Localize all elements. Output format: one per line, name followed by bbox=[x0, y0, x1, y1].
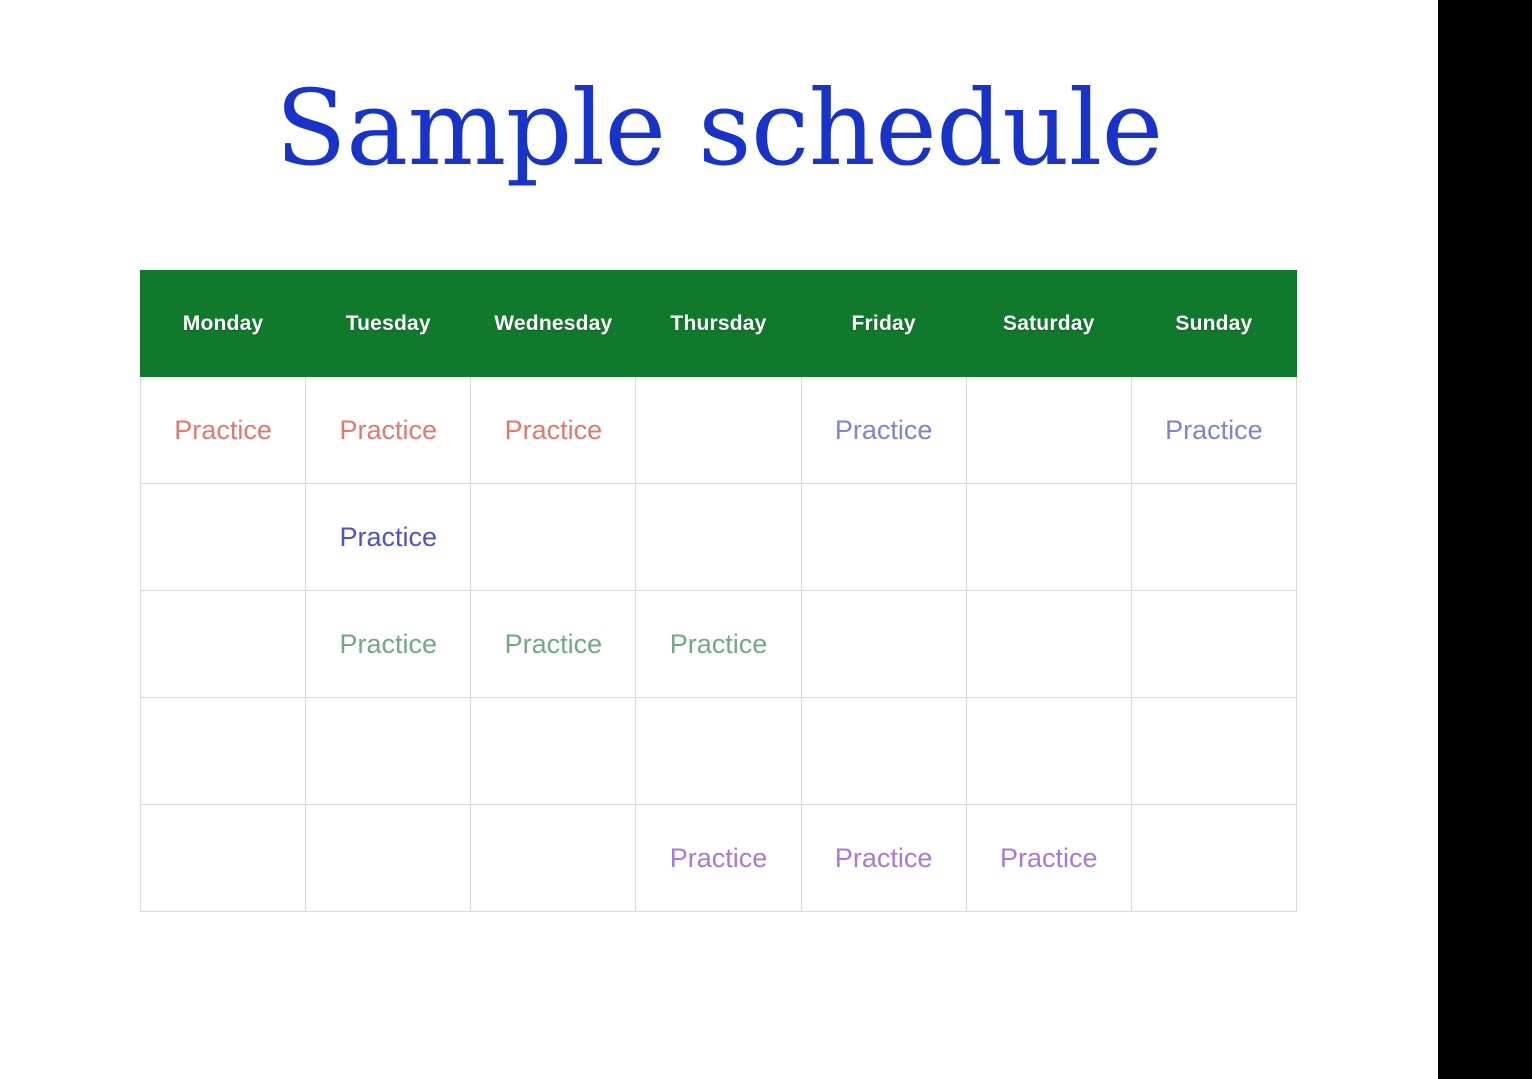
schedule-cell[interactable]: Practice bbox=[1131, 377, 1296, 484]
schedule-cell[interactable] bbox=[471, 698, 636, 805]
column-header-friday[interactable]: Friday bbox=[801, 271, 966, 377]
schedule-cell[interactable]: Practice bbox=[141, 377, 306, 484]
schedule-entry-label: Practice bbox=[174, 417, 272, 444]
schedule-entry-label: Practice bbox=[835, 845, 933, 872]
schedule-table-header: Monday Tuesday Wednesday Thursday Friday… bbox=[141, 271, 1297, 377]
schedule-cell[interactable] bbox=[966, 377, 1131, 484]
schedule-cell[interactable] bbox=[966, 698, 1131, 805]
weekly-schedule-table: Monday Tuesday Wednesday Thursday Friday… bbox=[140, 270, 1297, 912]
schedule-cell[interactable]: Practice bbox=[471, 377, 636, 484]
table-row: PracticePracticePractice bbox=[141, 805, 1297, 912]
schedule-entry-label: Practice bbox=[670, 845, 768, 872]
schedule-cell[interactable] bbox=[141, 698, 306, 805]
schedule-cell[interactable] bbox=[636, 377, 801, 484]
schedule-entry-label: Practice bbox=[1000, 845, 1098, 872]
schedule-entry-label: Practice bbox=[505, 417, 603, 444]
schedule-cell[interactable] bbox=[141, 591, 306, 698]
page-title: Sample schedule bbox=[0, 72, 1438, 184]
schedule-cell[interactable]: Practice bbox=[306, 377, 471, 484]
column-header-wednesday[interactable]: Wednesday bbox=[471, 271, 636, 377]
column-header-monday[interactable]: Monday bbox=[141, 271, 306, 377]
schedule-cell[interactable] bbox=[1131, 698, 1296, 805]
schedule-entry-label: Practice bbox=[670, 631, 768, 658]
column-header-thursday[interactable]: Thursday bbox=[636, 271, 801, 377]
schedule-cell[interactable] bbox=[1131, 484, 1296, 591]
column-header-tuesday[interactable]: Tuesday bbox=[306, 271, 471, 377]
schedule-cell[interactable] bbox=[1131, 805, 1296, 912]
schedule-cell[interactable] bbox=[306, 698, 471, 805]
schedule-cell[interactable] bbox=[471, 805, 636, 912]
schedule-cell[interactable] bbox=[471, 484, 636, 591]
schedule-cell[interactable]: Practice bbox=[801, 805, 966, 912]
schedule-entry-label: Practice bbox=[339, 631, 437, 658]
schedule-cell[interactable] bbox=[801, 591, 966, 698]
schedule-entry-label: Practice bbox=[505, 631, 603, 658]
letterbox-bar-right bbox=[1438, 0, 1532, 1079]
schedule-entry-label: Practice bbox=[339, 524, 437, 551]
schedule-entry-label: Practice bbox=[1165, 417, 1263, 444]
schedule-cell[interactable]: Practice bbox=[306, 484, 471, 591]
schedule-cell[interactable] bbox=[966, 591, 1131, 698]
schedule-cell[interactable]: Practice bbox=[636, 805, 801, 912]
schedule-cell[interactable] bbox=[966, 484, 1131, 591]
schedule-cell[interactable]: Practice bbox=[471, 591, 636, 698]
schedule-cell[interactable]: Practice bbox=[966, 805, 1131, 912]
table-row bbox=[141, 698, 1297, 805]
schedule-cell[interactable] bbox=[141, 805, 306, 912]
table-row: PracticePracticePractice bbox=[141, 591, 1297, 698]
schedule-cell[interactable] bbox=[636, 484, 801, 591]
schedule-table-body: PracticePracticePracticePracticePractice… bbox=[141, 377, 1297, 912]
slide-canvas: Sample schedule Monday Tuesday Wednesday… bbox=[0, 0, 1438, 1079]
table-row: PracticePracticePracticePracticePractice bbox=[141, 377, 1297, 484]
schedule-cell[interactable]: Practice bbox=[801, 377, 966, 484]
schedule-cell[interactable] bbox=[801, 698, 966, 805]
schedule-entry-label: Practice bbox=[835, 417, 933, 444]
schedule-cell[interactable] bbox=[636, 698, 801, 805]
header-row: Monday Tuesday Wednesday Thursday Friday… bbox=[141, 271, 1297, 377]
schedule-cell[interactable] bbox=[306, 805, 471, 912]
schedule-cell[interactable] bbox=[141, 484, 306, 591]
column-header-sunday[interactable]: Sunday bbox=[1131, 271, 1296, 377]
column-header-saturday[interactable]: Saturday bbox=[966, 271, 1131, 377]
schedule-cell[interactable]: Practice bbox=[636, 591, 801, 698]
schedule-entry-label: Practice bbox=[339, 417, 437, 444]
schedule-cell[interactable] bbox=[1131, 591, 1296, 698]
table-row: Practice bbox=[141, 484, 1297, 591]
schedule-cell[interactable]: Practice bbox=[306, 591, 471, 698]
schedule-cell[interactable] bbox=[801, 484, 966, 591]
